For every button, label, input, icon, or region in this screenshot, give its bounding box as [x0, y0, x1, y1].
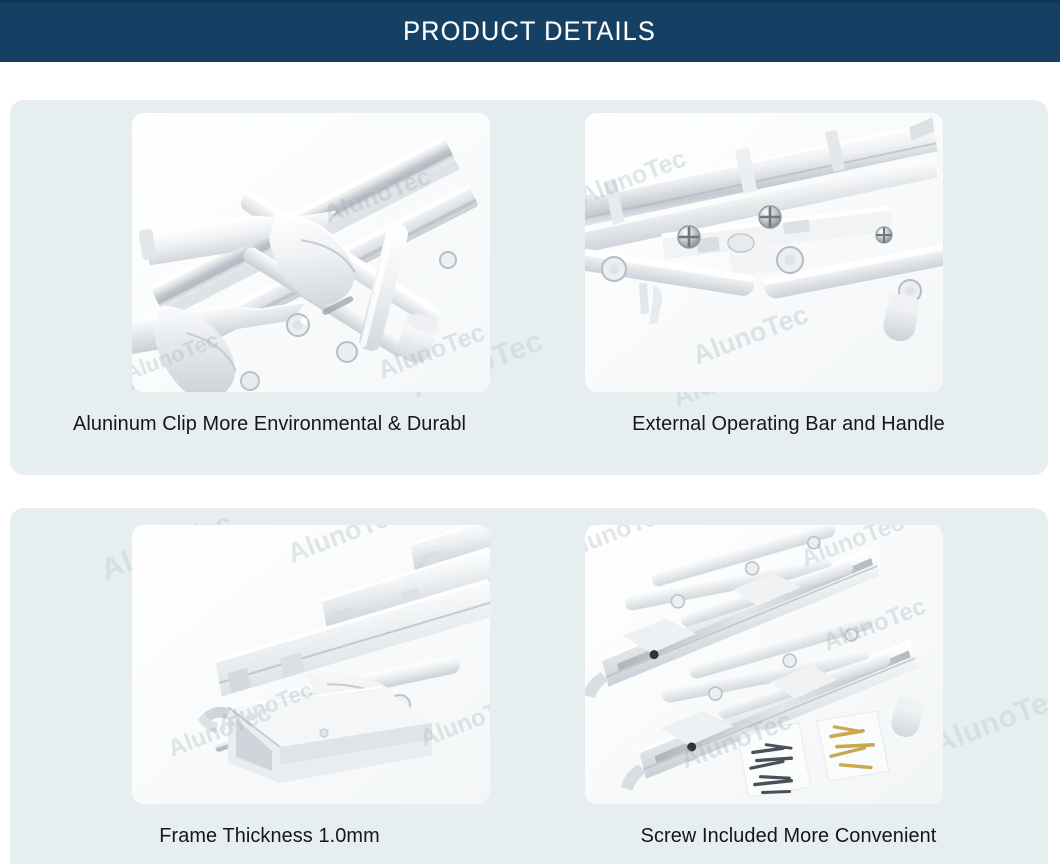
feature-caption: Screw Included More Convenient — [537, 824, 1040, 848]
feature-item-operating-bar[interactable]: AlunoTec AlunoTec External Operating Bar… — [529, 100, 1048, 475]
header-top-accent — [0, 0, 1060, 3]
product-photo-operating-bar[interactable]: AlunoTec AlunoTec — [585, 113, 943, 392]
feature-caption: Frame Thickness 1.0mm — [18, 824, 521, 848]
feature-caption: External Operating Bar and Handle — [537, 412, 1040, 436]
product-photo-aluminum-clip[interactable]: AlunoTec AlunoTec AlunoTec — [132, 113, 490, 392]
feature-item-screw-included[interactable]: AlunoTec AlunoTec AlunoTec AlunoTec Scre… — [529, 508, 1048, 864]
product-details-page: PRODUCT DETAILS AlunoTec AlunoTec AlunoT… — [0, 0, 1060, 864]
page-header: PRODUCT DETAILS — [0, 0, 1060, 62]
aluminum-clip-illustration: AlunoTec AlunoTec AlunoTec — [132, 113, 490, 392]
product-photo-frame-thickness[interactable]: AlunoTec AlunoTec AlunoTec AlunoTec — [132, 525, 490, 804]
screw-bag-right — [817, 711, 889, 781]
product-feature-panel-2: AlunoTec AlunoTec AlunoTec — [10, 508, 1048, 864]
operating-bar-illustration: AlunoTec AlunoTec — [585, 113, 943, 392]
product-feature-panel-1: AlunoTec AlunoTec AlunoTec — [10, 100, 1048, 475]
page-title: PRODUCT DETAILS — [404, 16, 657, 47]
product-photo-screw-included[interactable]: AlunoTec AlunoTec AlunoTec AlunoTec — [585, 525, 943, 804]
feature-caption: Aluninum Clip More Environmental & Durab… — [18, 412, 521, 436]
feature-item-frame-thickness[interactable]: AlunoTec AlunoTec AlunoTec AlunoTec Fram… — [10, 508, 529, 864]
screw-included-illustration: AlunoTec AlunoTec AlunoTec AlunoTec — [585, 525, 943, 804]
frame-thickness-illustration: AlunoTec AlunoTec AlunoTec AlunoTec — [132, 525, 490, 804]
feature-item-aluminum-clip[interactable]: AlunoTec AlunoTec AlunoTec Aluninum Clip… — [10, 100, 529, 475]
